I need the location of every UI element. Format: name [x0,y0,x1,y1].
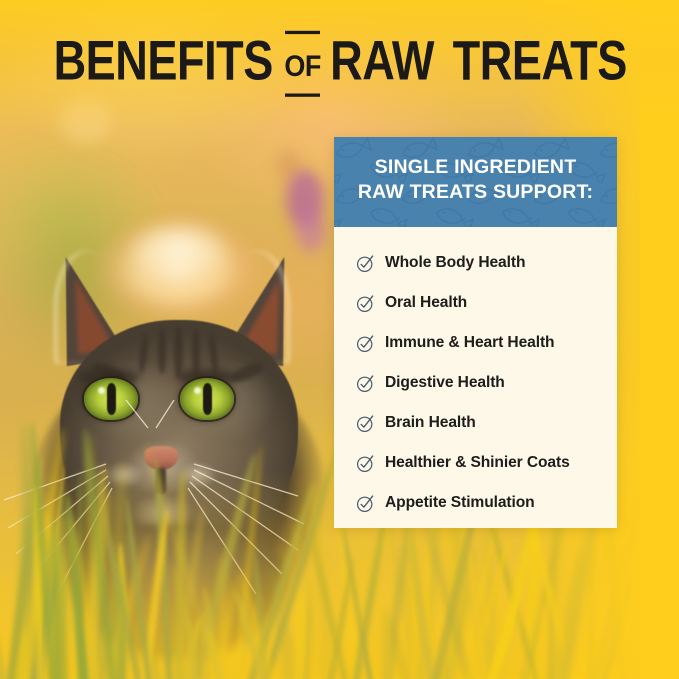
title-word-raw: RAW [330,31,434,90]
list-item-label: Immune & Heart Health [385,334,554,352]
check-circle-icon [356,454,375,473]
check-circle-icon [356,494,375,513]
check-circle-icon [356,294,375,313]
benefits-list: Whole Body Health Oral Health Immune & H… [334,227,617,523]
list-item: Brain Health [334,403,617,443]
list-item: Healthier & Shinier Coats [334,443,617,483]
card-header-text: SINGLE INGREDIENT RAW TREATS SUPPORT: [334,155,617,205]
list-item-label: Oral Health [385,294,467,312]
poster-title: BENEFITSOFRAW TREATS [0,40,679,91]
check-circle-icon [356,414,375,433]
poster-root: BENEFITSOFRAW TREATS [0,0,679,679]
benefits-card: SINGLE INGREDIENT RAW TREATS SUPPORT: Wh… [334,137,617,528]
card-header-line1: SINGLE INGREDIENT [334,155,617,180]
list-item-label: Digestive Health [385,374,505,392]
card-header-line2: RAW TREATS SUPPORT: [334,180,617,205]
list-item-label: Brain Health [385,414,476,432]
grass-blade-green [116,574,125,679]
title-word-treats: TREATS [452,31,626,90]
list-item: Oral Health [334,283,617,323]
list-item: Immune & Heart Health [334,323,617,363]
list-item: Appetite Stimulation [334,483,617,523]
title-word-of: OF [284,39,321,94]
card-header: SINGLE INGREDIENT RAW TREATS SUPPORT: [334,137,617,227]
list-item: Whole Body Health [334,243,617,283]
list-item-label: Appetite Stimulation [385,494,535,512]
list-item-label: Healthier & Shinier Coats [385,454,570,472]
list-item-label: Whole Body Health [385,254,525,272]
title-word-benefits: BENEFITS [53,31,272,90]
cat-forehead-stripe [174,326,183,378]
check-circle-icon [356,254,375,273]
cat-forehead-stripe [158,328,166,374]
check-circle-icon [356,334,375,353]
list-item: Digestive Health [334,363,617,403]
check-circle-icon [356,374,375,393]
